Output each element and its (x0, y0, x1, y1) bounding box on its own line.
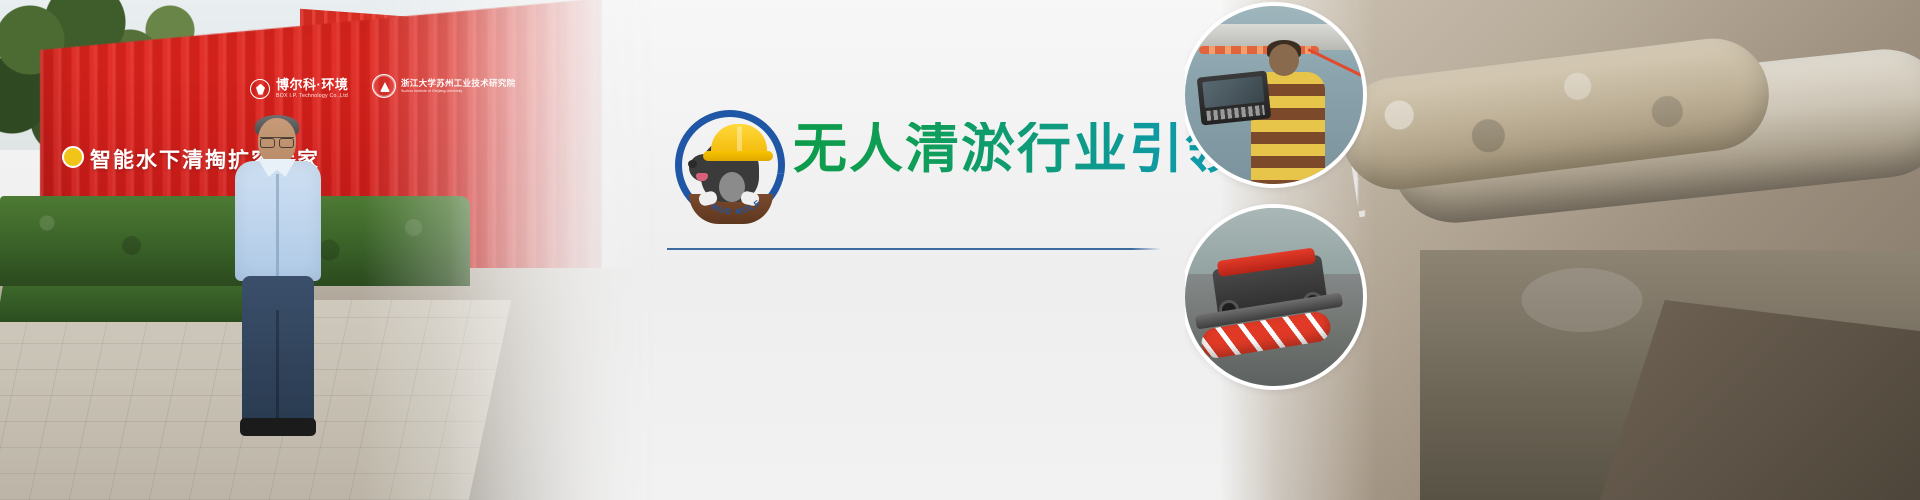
right-photo-group (1185, 0, 1920, 500)
dredging-robot-photo (1185, 208, 1363, 386)
operator-with-control-case-photo (1185, 6, 1363, 184)
container-and-engineer-photo: 博尔科·环境 BOX I.P. Technology Co.,Ltd 浙江大学苏… (0, 0, 660, 500)
floating-boom (1199, 46, 1319, 54)
mole-nose (688, 160, 697, 168)
photo-fade-overlay (0, 0, 660, 500)
hardhat-ridge (737, 126, 742, 156)
operator-head (1269, 44, 1299, 76)
hero-banner: 博尔科·环境 BOX I.P. Technology Co.,Ltd 浙江大学苏… (0, 0, 1920, 500)
title-divider (667, 248, 1161, 250)
control-console (1197, 70, 1272, 125)
mud-mole-logo: MUD MOLE (675, 110, 785, 220)
console-screen (1202, 76, 1264, 108)
center-content: MUD MOLE 无人清淤行业引领者 (665, 0, 1185, 500)
console-keypad (1206, 105, 1265, 121)
